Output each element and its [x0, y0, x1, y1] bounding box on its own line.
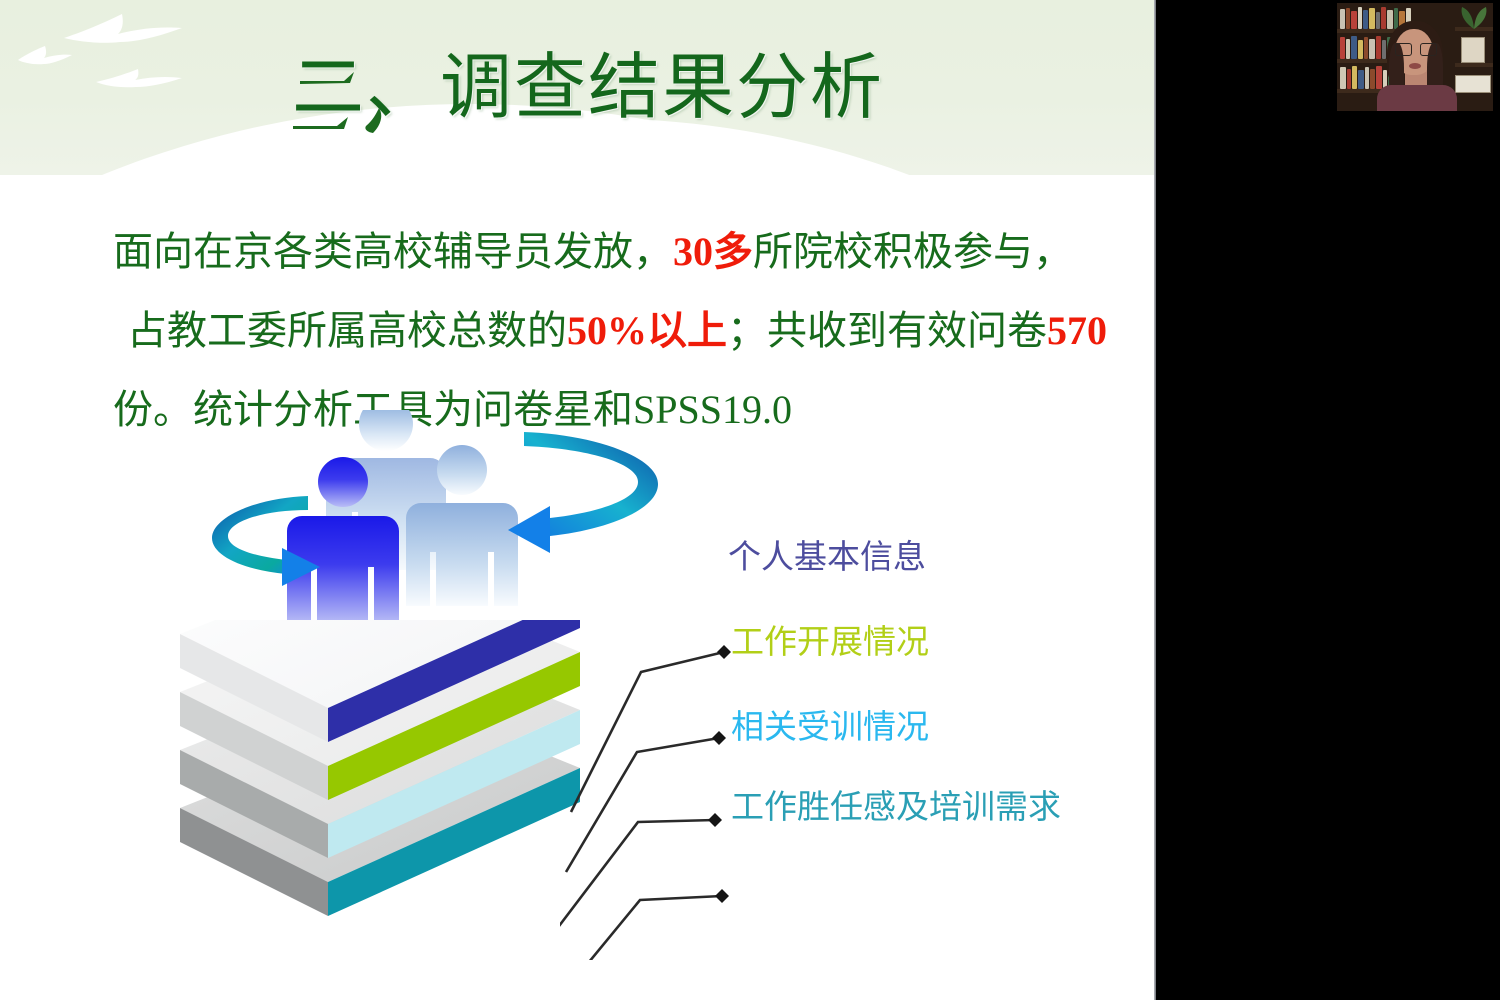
body-text-run: 面向在京各类高校辅导员发放，	[113, 229, 673, 274]
book	[1363, 10, 1368, 29]
book	[1370, 69, 1375, 89]
body-text-run: 所院校积极参与，	[753, 229, 1073, 274]
body-line-2: 占教工委所属高校总数的50%以上；共收到有效问卷570	[113, 291, 1083, 370]
book	[1376, 12, 1380, 29]
connector-marker	[708, 813, 722, 827]
diagram-label-work-progress: 工作开展情况	[731, 627, 929, 660]
diagram-label-competency-and-needs: 工作胜任感及培训需求	[731, 792, 1061, 825]
picture-frame	[1461, 37, 1485, 63]
shelf-board	[1455, 63, 1493, 67]
book	[1346, 8, 1350, 29]
book	[1340, 67, 1346, 89]
body-highlight-run: 30多	[673, 229, 753, 274]
video-frame	[1337, 3, 1493, 111]
book	[1347, 69, 1351, 89]
book	[1358, 70, 1364, 89]
body-highlight-run: 570	[1047, 308, 1107, 353]
book	[1352, 66, 1357, 89]
book	[1351, 36, 1357, 59]
body-highlight-run: 50%以上	[567, 308, 727, 353]
presenter-video-thumbnail[interactable]	[1330, 0, 1500, 118]
book	[1346, 39, 1350, 59]
diagram-label-personal-info: 个人基本信息	[728, 542, 926, 575]
connector-marker	[712, 731, 726, 745]
book	[1369, 39, 1375, 59]
connector-marker	[715, 889, 729, 903]
presentation-slide: 二、调查结果分析 面向在京各类高校辅导员发放，30多所院校积极参与， 占教工委所…	[0, 0, 1156, 1000]
glasses-icon	[1395, 43, 1435, 54]
body-text-run: ；共收到有效问卷	[727, 308, 1047, 353]
book	[1351, 11, 1357, 29]
bird-icon	[62, 8, 184, 50]
book	[1364, 37, 1368, 59]
plant-icon	[1457, 5, 1491, 34]
book	[1381, 7, 1386, 29]
book	[1376, 66, 1382, 89]
bird-icon	[94, 66, 184, 92]
book	[1376, 36, 1381, 59]
body-line-1: 面向在京各类高校辅导员发放，30多所院校积极参与，	[113, 212, 1083, 291]
book	[1369, 8, 1375, 29]
book	[1387, 10, 1393, 29]
book	[1340, 9, 1345, 29]
body-text-run: 占教工委所属高校总数的	[127, 308, 567, 353]
slide-right-edge	[1154, 0, 1156, 1000]
bird-icon	[16, 44, 74, 68]
screen-share-stage: 二、调查结果分析 面向在京各类高校辅导员发放，30多所院校积极参与， 占教工委所…	[0, 0, 1500, 1000]
book	[1358, 7, 1362, 29]
slide-diagram: 个人基本信息 工作开展情况 相关受训情况 工作胜任感及培训需求	[0, 400, 1156, 980]
layer-stack-graphic	[150, 620, 620, 980]
book	[1382, 40, 1386, 59]
presenter-torso	[1377, 85, 1457, 111]
picture-frame	[1455, 75, 1491, 93]
book	[1358, 40, 1363, 59]
page-title: 二、调查结果分析	[292, 52, 884, 124]
presenter-mouth	[1409, 63, 1421, 69]
book	[1365, 67, 1369, 89]
connector-marker	[717, 645, 731, 659]
book	[1340, 37, 1345, 59]
diagram-label-training-received: 相关受训情况	[731, 712, 929, 745]
